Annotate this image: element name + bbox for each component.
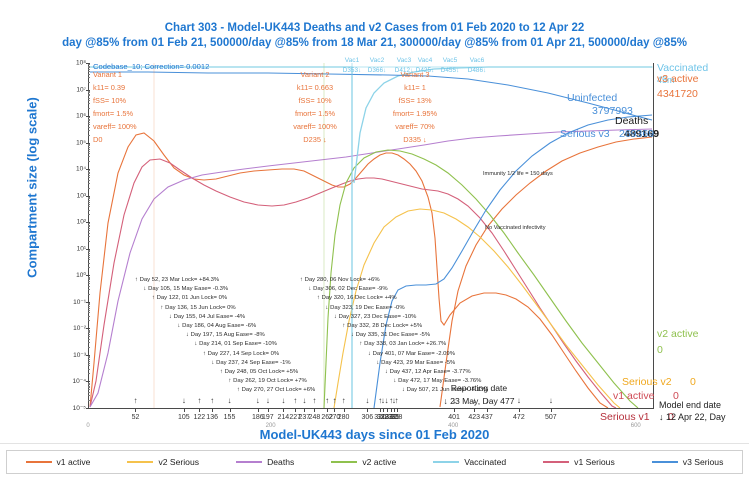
x-tick-mark xyxy=(391,408,392,412)
y-minor-tick xyxy=(88,389,90,390)
y-minor-tick xyxy=(88,339,90,340)
x-tick-mark xyxy=(258,408,259,412)
y-minor-tick xyxy=(88,206,90,207)
y-minor-tick xyxy=(88,336,90,337)
chart-title: Chart 303 - Model-UK443 Deaths and v2 Ca… xyxy=(0,22,749,34)
intervention-left-8: ↓ Day 214, 01 Sep Ease= -10% xyxy=(195,341,277,347)
y-minor-tick xyxy=(88,373,90,374)
vac-marker-label-2: Vac2 xyxy=(370,57,385,64)
x-tick-mark xyxy=(135,408,136,412)
x-axis-event-arrow: ↑ xyxy=(293,396,297,405)
x-tick-mark xyxy=(394,408,395,412)
chart-legend: v1 activev2 SeriousDeathsv2 activeVaccin… xyxy=(6,450,743,474)
x-axis-gray-label: 400 xyxy=(448,423,458,429)
variant-2-fmort: fmort= 1.5% xyxy=(295,109,335,118)
y-minor-tick xyxy=(88,67,90,68)
curve-deaths xyxy=(90,129,652,407)
legend-label: v1 Serious xyxy=(574,457,615,467)
variant-3-fmort: fmort= 1.95% xyxy=(393,109,437,118)
x-axis-event-arrow: ↑ xyxy=(312,396,316,405)
y-minor-tick xyxy=(88,257,90,258)
y-minor-tick xyxy=(88,98,90,99)
y-minor-tick xyxy=(88,369,90,370)
y-minor-tick xyxy=(88,223,90,224)
y-minor-tick xyxy=(88,202,90,203)
y-minor-tick xyxy=(88,130,90,131)
variant-3-day: D335 ↓ xyxy=(403,135,426,144)
y-minor-tick xyxy=(88,153,90,154)
y-minor-tick xyxy=(88,188,90,189)
end-value-serious-v3: 269369 xyxy=(619,128,654,140)
y-minor-tick xyxy=(88,124,90,125)
x-tick-label: 214 xyxy=(278,414,290,421)
legend-swatch-icon xyxy=(127,461,153,463)
y-minor-tick xyxy=(88,135,90,136)
y-minor-tick xyxy=(88,173,90,174)
intervention-right-6: ↑ Day 332, 28 Dec Lock= +5% xyxy=(343,323,423,329)
y-minor-tick xyxy=(88,200,90,201)
x-tick-label: 401 xyxy=(448,414,460,421)
intervention-right-13: ↓ Day 507, 21 Jun Ease= -4.13% xyxy=(402,387,488,393)
end-value-serious-v2: 0 xyxy=(690,376,696,388)
y-tick-label: 10² xyxy=(77,219,86,226)
legend-swatch-icon xyxy=(543,461,569,463)
y-tick-label: 10⁵ xyxy=(76,139,86,146)
variant-1-vareff: vareff= 100% xyxy=(93,122,137,131)
intervention-left-10: ↓ Day 237, 24 Sep Ease= -1% xyxy=(212,360,291,366)
y-minor-tick xyxy=(88,363,90,364)
y-minor-tick xyxy=(88,359,90,360)
y-minor-tick xyxy=(88,251,90,252)
y-minor-tick xyxy=(88,308,90,309)
y-minor-tick xyxy=(88,71,90,72)
x-tick-mark xyxy=(454,408,455,412)
end-label-v2-active: v2 active xyxy=(657,328,698,340)
model-end-line1: Model end date xyxy=(659,400,721,410)
legend-label: v3 Serious xyxy=(683,457,724,467)
legend-item-v1-serious[interactable]: v1 Serious xyxy=(543,457,615,467)
legend-label: v1 active xyxy=(57,457,91,467)
x-axis-event-arrow: ↓ xyxy=(385,396,389,405)
model-end-line2: ↓ 12 Apr 22, Day xyxy=(659,412,726,422)
y-minor-tick xyxy=(88,117,90,118)
x-tick-label: 122 xyxy=(194,414,206,421)
reporting-date-line2: ↓ 23 May, Day 477 xyxy=(443,396,514,406)
y-minor-tick xyxy=(88,77,90,78)
legend-item-vaccinated[interactable]: Vaccinated xyxy=(433,457,506,467)
note-no-vax-infectivity: No Vaccinated infectivity xyxy=(485,225,546,231)
x-tick-mark xyxy=(367,408,368,412)
note-immunity: Immunity 1/2 life = 150 days xyxy=(483,171,553,177)
end-label-serious-v2: Serious v2 xyxy=(622,376,672,388)
legend-item-v3-serious[interactable]: v3 Serious xyxy=(652,457,724,467)
legend-swatch-icon xyxy=(236,461,262,463)
x-axis-event-arrow: ↑ xyxy=(210,396,214,405)
chart-page: Chart 303 - Model-UK443 Deaths and v2 Ca… xyxy=(0,0,749,479)
vac-marker-day-3: D412↓ xyxy=(395,67,413,74)
intervention-right-11: ↓ Day 437, 12 Apr Ease= -3.77% xyxy=(385,369,471,375)
y-minor-tick xyxy=(88,94,90,95)
x-tick-mark xyxy=(199,408,200,412)
y-tick-label: 10⁻⁵ xyxy=(73,404,86,412)
end-label-deaths: Deaths xyxy=(615,115,648,127)
legend-swatch-icon xyxy=(331,461,357,463)
vac-marker-day-1: D353↓ xyxy=(343,67,361,74)
y-minor-tick xyxy=(88,392,90,393)
y-minor-tick xyxy=(88,365,90,366)
vac-marker-label-4: Vac4 xyxy=(418,57,433,64)
y-minor-tick xyxy=(88,103,90,104)
x-tick-mark xyxy=(268,408,269,412)
x-tick-label: 423 xyxy=(468,414,480,421)
intervention-left-12: ↑ Day 262, 19 Oct Lock= +7% xyxy=(229,378,307,384)
intervention-right-8: ↑ Day 338, 03 Jan Lock= +26.7% xyxy=(360,341,447,347)
y-minor-tick xyxy=(88,312,90,313)
y-axis-ticks: 10⁸10⁷10⁶10⁵10⁴10³10²10¹10⁰10⁻¹10⁻²10⁻³1… xyxy=(52,63,86,408)
y-minor-tick xyxy=(88,383,90,384)
variant-3-k11: k11= 1 xyxy=(404,83,426,92)
x-axis-event-arrows: ↑↓↑↑↓↓↓↓↑↓↑↑↑↑↓↑↓↓↑↓↑↓↓↓↓↓ xyxy=(88,396,654,408)
y-minor-tick xyxy=(88,197,90,198)
y-minor-tick xyxy=(88,286,90,287)
intervention-right-10: ↓ Day 423, 29 Mar Ease= -5% xyxy=(377,360,456,366)
y-minor-tick xyxy=(88,95,90,96)
x-axis-event-arrow: ↓ xyxy=(549,396,553,405)
y-minor-tick xyxy=(88,127,90,128)
y-minor-tick xyxy=(88,156,90,157)
y-tick-label: 10⁻² xyxy=(73,324,86,332)
end-label-uninfected: Uninfected xyxy=(567,92,617,104)
y-minor-tick xyxy=(88,214,90,215)
y-axis-label: Compartment size (log scale) xyxy=(25,38,40,338)
end-label-v3-active: v3 active xyxy=(657,73,698,85)
y-minor-tick xyxy=(88,304,90,305)
y-minor-tick xyxy=(88,74,90,75)
x-tick-label: 136 xyxy=(206,414,218,421)
x-tick-mark xyxy=(387,408,388,412)
vac-marker-day-5: D455↓ xyxy=(441,67,459,74)
variant-2-fSS: fSS= 10% xyxy=(298,96,331,105)
y-minor-tick xyxy=(88,172,90,173)
x-tick-label: 52 xyxy=(132,414,140,421)
x-tick-label: 472 xyxy=(513,414,525,421)
variant-3-fSS: fSS= 13% xyxy=(398,96,431,105)
y-minor-tick xyxy=(88,120,90,121)
y-tick-label: 10⁷ xyxy=(76,86,86,93)
x-tick-mark xyxy=(295,408,296,412)
legend-label: v2 active xyxy=(362,457,396,467)
y-minor-tick xyxy=(88,151,90,152)
y-minor-tick xyxy=(88,250,90,251)
y-minor-tick xyxy=(88,387,90,388)
variant-1-fSS: fSS= 10% xyxy=(93,96,126,105)
y-minor-tick xyxy=(88,177,90,178)
legend-swatch-icon xyxy=(26,461,52,463)
x-tick-mark xyxy=(344,408,345,412)
x-tick-mark xyxy=(383,408,384,412)
x-tick-mark xyxy=(230,408,231,412)
legend-swatch-icon xyxy=(433,461,459,463)
right-axis-line xyxy=(653,63,654,408)
x-axis-event-arrow: ↓ xyxy=(266,396,270,405)
y-tick-label: 10⁰ xyxy=(76,271,86,279)
x-tick-label: 507 xyxy=(545,414,557,421)
x-axis-event-arrow: ↓ xyxy=(365,396,369,405)
variant-1-fmort: fmort= 1.5% xyxy=(93,109,133,118)
x-axis-event-arrow: ↓ xyxy=(256,396,260,405)
intervention-left-11: ↑ Day 248, 05 Oct Lock= +5% xyxy=(220,369,298,375)
intervention-left-4: ↑ Day 136, 15 Jun Lock= 0% xyxy=(161,305,236,311)
y-minor-tick xyxy=(88,253,90,254)
vac-marker-label-3: Vac3 xyxy=(397,57,412,64)
y-minor-tick xyxy=(88,334,90,335)
x-axis-event-arrow: ↑ xyxy=(342,396,346,405)
legend-label: Vaccinated xyxy=(464,457,506,467)
x-tick-mark xyxy=(380,408,381,412)
y-minor-tick xyxy=(88,303,90,304)
intervention-left-2: ↓ Day 105, 15 May Ease= -0.3% xyxy=(144,286,229,292)
x-tick-label: 155 xyxy=(224,414,236,421)
x-tick-label: 248 xyxy=(309,414,321,421)
y-minor-tick xyxy=(88,281,90,282)
x-axis-event-arrow: ↑ xyxy=(332,396,336,405)
chart-subtitle: day @85% from 01 Feb 21, 500000/day @85%… xyxy=(0,37,749,49)
y-minor-tick xyxy=(88,91,90,92)
vac-marker-day-6: D486↓ xyxy=(468,67,486,74)
intervention-left-7: ↓ Day 197, 15 Aug Ease= -8% xyxy=(186,332,265,338)
vac-marker-label-5: Vac5 xyxy=(443,57,458,64)
y-minor-tick xyxy=(88,145,90,146)
y-minor-tick xyxy=(88,69,90,70)
y-minor-tick xyxy=(88,147,90,148)
y-minor-tick xyxy=(88,356,90,357)
y-minor-tick xyxy=(88,144,90,145)
x-axis-event-arrow: ↑ xyxy=(395,396,399,405)
y-minor-tick xyxy=(88,92,90,93)
variant-2-k11: k11= 0.663 xyxy=(297,83,333,92)
y-minor-tick xyxy=(88,342,90,343)
y-minor-tick xyxy=(88,289,90,290)
y-minor-tick xyxy=(88,278,90,279)
y-minor-tick xyxy=(88,332,90,333)
intervention-right-7: ↓ Day 335, 31 Dec Ease= -5% xyxy=(351,332,430,338)
y-minor-tick xyxy=(88,183,90,184)
y-minor-tick xyxy=(88,255,90,256)
y-minor-tick xyxy=(88,283,90,284)
vac-marker-day-4: D425↓ xyxy=(416,67,434,74)
x-axis-gray-label: 600 xyxy=(631,423,641,429)
y-minor-tick xyxy=(88,100,90,101)
x-tick-mark xyxy=(474,408,475,412)
curve-v1-serious xyxy=(90,159,616,408)
y-minor-tick xyxy=(88,316,90,317)
end-value-v3-active: 4341720 xyxy=(657,88,698,100)
intervention-left-6: ↓ Day 186, 04 Aug Ease= -6% xyxy=(178,323,257,329)
y-minor-tick xyxy=(88,170,90,171)
x-axis-event-arrow: ↑ xyxy=(197,396,201,405)
y-minor-tick xyxy=(88,225,90,226)
x-tick-mark xyxy=(551,408,552,412)
y-minor-tick xyxy=(88,149,90,150)
y-minor-tick xyxy=(88,279,90,280)
y-minor-tick xyxy=(88,267,90,268)
end-label-v1-active: v1 active xyxy=(613,390,654,402)
end-value-v2-active: 0 xyxy=(657,344,663,356)
y-minor-tick xyxy=(88,64,90,65)
intervention-right-4: ↓ Day 323, 19 Dec Ease= -0% xyxy=(326,305,405,311)
intervention-left-3: ↑ Day 122, 01 Jun Lock= 0% xyxy=(152,295,227,301)
y-minor-tick xyxy=(88,361,90,362)
x-tick-label: 338 xyxy=(391,414,403,421)
y-minor-tick xyxy=(88,228,90,229)
x-tick-mark xyxy=(487,408,488,412)
variant-2-day: D235 ↓ xyxy=(303,135,326,144)
y-minor-tick xyxy=(88,395,90,396)
y-tick-label: 10³ xyxy=(77,192,86,199)
y-minor-tick xyxy=(88,330,90,331)
intervention-right-2: ↓ Day 306, 02 Dec Ease= -9% xyxy=(309,286,388,292)
end-label-serious-v3: Serious v3 xyxy=(560,128,610,140)
y-minor-tick xyxy=(88,66,90,67)
y-minor-tick xyxy=(88,233,90,234)
x-axis-event-arrow: ↓ xyxy=(182,396,186,405)
legend-item-deaths[interactable]: Deaths xyxy=(236,457,294,467)
legend-item-v1-active[interactable]: v1 active xyxy=(26,457,91,467)
intervention-left-13: ↑ Day 270, 27 Oct Lock= +6% xyxy=(237,387,315,393)
variant-3-vareff: vareff= 70% xyxy=(395,122,435,131)
curve-v3-active xyxy=(440,137,652,407)
intervention-right-3: ↑ Day 320, 16 Dec Lock= +4% xyxy=(317,295,397,301)
y-minor-tick xyxy=(88,175,90,176)
x-tick-mark xyxy=(519,408,520,412)
y-minor-tick xyxy=(88,161,90,162)
x-axis-ticks: 5210512213615518619721422723724826227028… xyxy=(88,408,654,432)
y-minor-tick xyxy=(88,108,90,109)
y-minor-tick xyxy=(88,210,90,211)
y-tick-label: 10⁴ xyxy=(76,166,86,173)
variant-2-vareff: vareff= 100% xyxy=(293,122,337,131)
x-tick-label: 280 xyxy=(338,414,350,421)
variant-1-day: D0 xyxy=(93,135,102,144)
x-tick-mark xyxy=(334,408,335,412)
intervention-right-1: ↑ Day 280, 06 Nov Lock= +6% xyxy=(300,277,380,283)
y-minor-tick xyxy=(88,119,90,120)
x-axis-gray-label: 200 xyxy=(266,423,276,429)
variant-1-k11: k11= 0.39 xyxy=(93,83,125,92)
end-label-serious-v1: Serious v1 xyxy=(600,411,650,423)
y-minor-tick xyxy=(88,386,90,387)
legend-label: v2 Serious xyxy=(158,457,199,467)
variant-1-name: Variant 1 xyxy=(93,70,122,79)
y-minor-tick xyxy=(88,259,90,260)
x-axis-event-arrow: ↓ xyxy=(228,396,232,405)
x-tick-mark xyxy=(397,408,398,412)
y-tick-label: 10¹ xyxy=(77,245,86,252)
y-minor-tick xyxy=(88,277,90,278)
y-minor-tick xyxy=(88,241,90,242)
y-minor-tick xyxy=(88,226,90,227)
x-tick-label: 197 xyxy=(262,414,274,421)
y-minor-tick xyxy=(88,294,90,295)
legend-swatch-icon xyxy=(652,461,678,463)
y-tick-label: 10⁻³ xyxy=(73,351,86,359)
vac-marker-label-1: Vac1 xyxy=(345,57,360,64)
x-tick-mark xyxy=(314,408,315,412)
y-minor-tick xyxy=(88,122,90,123)
vac-marker-day-2: D366↓ xyxy=(368,67,386,74)
y-minor-tick xyxy=(88,384,90,385)
y-minor-tick xyxy=(88,310,90,311)
y-minor-tick xyxy=(88,230,90,231)
y-minor-tick xyxy=(88,320,90,321)
legend-separator xyxy=(0,443,749,444)
y-minor-tick xyxy=(88,357,90,358)
x-axis-event-arrow: ↓ xyxy=(517,396,521,405)
y-minor-tick xyxy=(88,236,90,237)
x-axis-event-arrow: ↓ xyxy=(281,396,285,405)
y-minor-tick xyxy=(88,306,90,307)
vac-marker-label-6: Vac6 xyxy=(470,57,485,64)
y-tick-label: 10⁻⁴ xyxy=(73,377,86,385)
y-tick-label: 10⁻¹ xyxy=(73,298,86,306)
x-axis-gray-label: 0 xyxy=(86,423,89,429)
curve-vaccinated xyxy=(90,67,352,408)
x-tick-mark xyxy=(212,408,213,412)
x-tick-mark xyxy=(327,408,328,412)
x-axis-event-arrow: ↑ xyxy=(133,396,137,405)
x-axis-event-arrow: ↓ xyxy=(302,396,306,405)
x-tick-mark xyxy=(184,408,185,412)
y-minor-tick xyxy=(88,400,90,401)
legend-item-v2-serious[interactable]: v2 Serious xyxy=(127,457,199,467)
y-minor-tick xyxy=(88,198,90,199)
x-axis-event-arrow: ↑ xyxy=(325,396,329,405)
variant-2-name: Variant 2 xyxy=(300,70,329,79)
y-tick-label: 10⁸ xyxy=(76,60,86,67)
intervention-left-5: ↓ Day 155, 04 Jul Ease= -4% xyxy=(169,314,245,320)
intervention-right-9: ↓ Day 401, 07 Mar Ease= -2.09% xyxy=(368,351,455,357)
y-tick-label: 10⁶ xyxy=(76,113,86,120)
y-minor-tick xyxy=(88,82,90,83)
intervention-left-1: ↑ Day 52, 23 Mar Lock= +84.3% xyxy=(135,277,219,283)
y-tick-mark xyxy=(86,408,90,409)
y-minor-tick xyxy=(88,204,90,205)
x-tick-mark xyxy=(304,408,305,412)
y-minor-tick xyxy=(88,331,90,332)
intervention-left-9: ↑ Day 227, 14 Sep Lock= 0% xyxy=(203,351,279,357)
y-minor-tick xyxy=(88,180,90,181)
y-minor-tick xyxy=(88,347,90,348)
x-tick-mark xyxy=(283,408,284,412)
legend-item-v2-active[interactable]: v2 active xyxy=(331,457,396,467)
intervention-right-5: ↓ Day 327, 23 Dec Ease= -10% xyxy=(334,314,416,320)
y-minor-tick xyxy=(88,263,90,264)
x-tick-label: 306 xyxy=(362,414,374,421)
x-tick-label: 105 xyxy=(178,414,190,421)
intervention-right-12: ↓ Day 472, 17 May Ease= -3.76% xyxy=(394,378,482,384)
x-tick-label: 437 xyxy=(481,414,493,421)
legend-label: Deaths xyxy=(267,457,294,467)
